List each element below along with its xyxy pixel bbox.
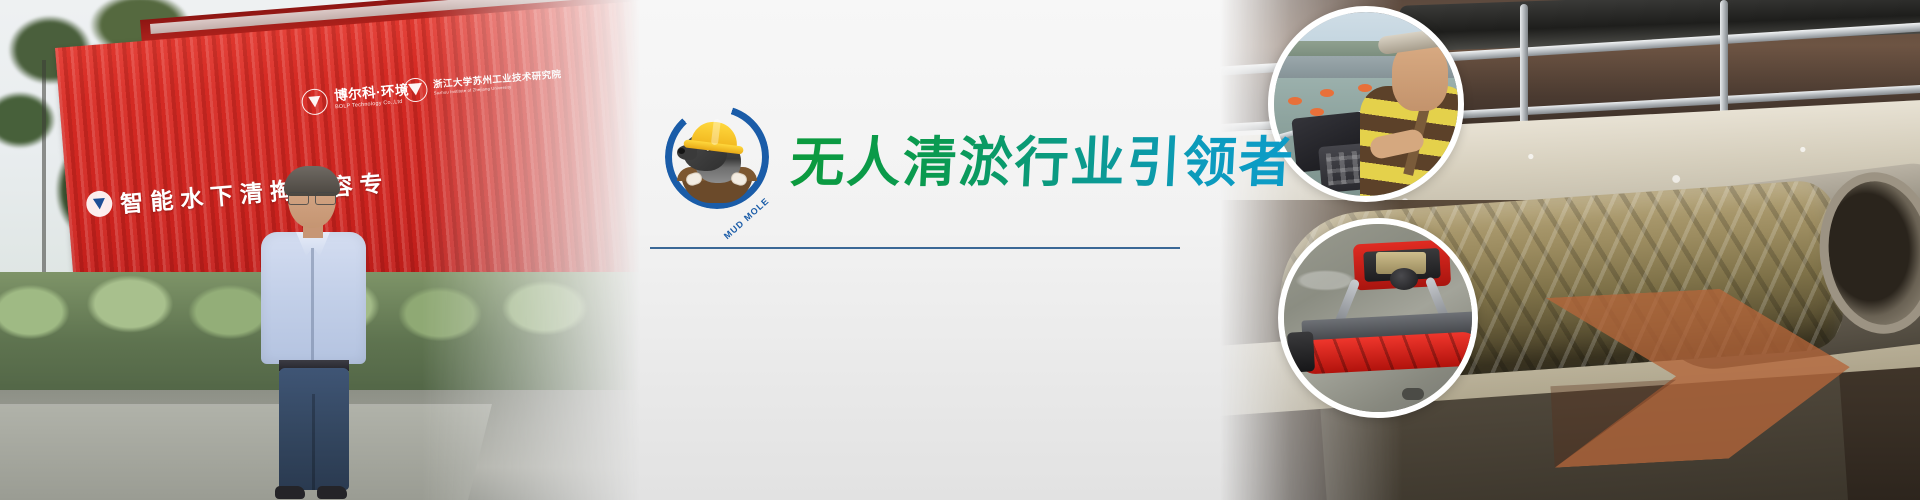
bolp-mark-icon: [301, 88, 329, 116]
center-content: MUD MOLE 无人清淤行业引领者: [640, 0, 1240, 500]
slogan-badge-icon: [85, 190, 113, 218]
debris-rock: [1402, 388, 1424, 400]
dredging-robot-photo: [1278, 218, 1478, 418]
person-shoe-left: [275, 486, 305, 499]
concrete-path: [0, 404, 492, 500]
mud-mole-logo[interactable]: MUD MOLE: [665, 105, 769, 209]
person-glasses-icon: [288, 192, 336, 203]
orange-float-buoy: [1288, 97, 1302, 105]
robot-auger-end-cap: [1287, 331, 1315, 372]
left-photo-container-lab: 博尔科·环境 BOLP Technology Co.,Ltd 浙江大学苏州工业技…: [0, 0, 640, 500]
mole-nose-icon: [678, 148, 685, 154]
institute-text: 浙江大学苏州工业技术研究院 Suzhou Institute of Zhejia…: [433, 70, 563, 96]
person-shirt-placket: [311, 248, 314, 360]
headline-row: MUD MOLE 无人清淤行业引领者: [665, 105, 1295, 209]
orange-float-buoy: [1358, 84, 1372, 92]
bolp-brand-text: 博尔科·环境 BOLP Technology Co.,Ltd: [334, 83, 411, 111]
orange-float-buoy: [1310, 108, 1324, 116]
person-pants: [279, 368, 349, 490]
institute-mark-icon: [403, 77, 429, 103]
person-shoe-right: [317, 486, 347, 499]
hero-banner: 博尔科·环境 BOLP Technology Co.,Ltd 浙江大学苏州工业技…: [0, 0, 1920, 500]
operator-console-photo: [1268, 6, 1464, 202]
rail-post: [1520, 4, 1528, 134]
divider-rule: [650, 247, 1180, 249]
robot-motor: [1390, 268, 1418, 290]
page-title: 无人清淤行业引领者: [789, 118, 1297, 197]
engineer-person: [255, 170, 385, 500]
